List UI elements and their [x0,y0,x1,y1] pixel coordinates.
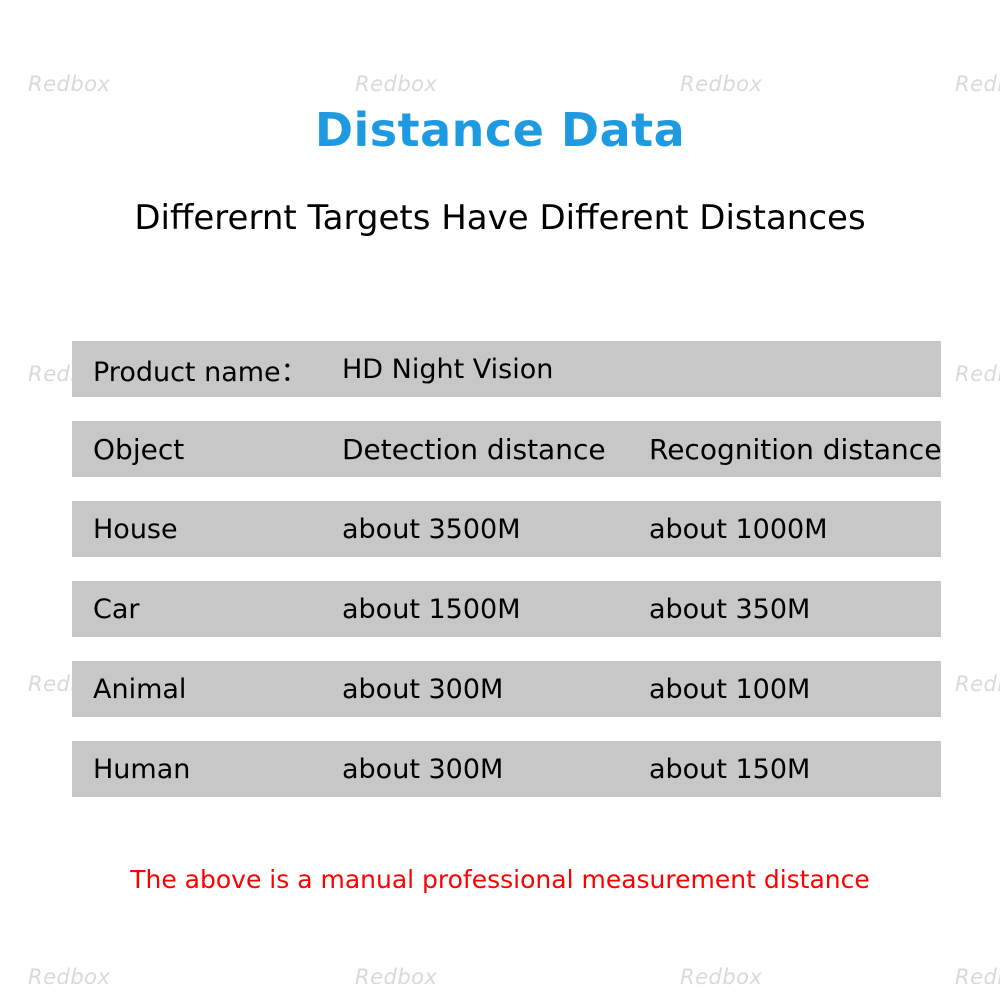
cell-object: Human [72,754,342,785]
table-row-product: Product name： HD Night Vision [72,341,941,397]
watermark-text: Redbox [680,965,762,989]
table-row: Animal about 300M about 100M [72,661,941,717]
measurement-footnote: The above is a manual professional measu… [0,865,1000,894]
column-header-recognition: Recognition distance [649,433,941,466]
watermark-text: Redbox [680,72,762,96]
page-subtitle: Differernt Targets Have Different Distan… [0,198,1000,238]
column-header-object: Object [72,433,342,466]
watermark-text: Redbox [955,672,1000,696]
cell-detection: about 3500M [342,514,649,545]
watermark-text: Redbox [955,965,1000,989]
watermark-text: Redbox [28,965,110,989]
cell-detection: about 300M [342,674,649,705]
column-header-detection: Detection distance [342,433,649,466]
cell-object: House [72,514,342,545]
cell-recognition: about 150M [649,754,941,785]
cell-recognition: about 350M [649,594,941,625]
watermark-text: Redbox [28,72,110,96]
cell-detection: about 1500M [342,594,649,625]
watermark-text: Redbox [355,965,437,989]
table-row: House about 3500M about 1000M [72,501,941,557]
cell-object: Car [72,594,342,625]
cell-object: Animal [72,674,342,705]
watermark-text: Redbox [355,72,437,96]
page-title: Distance Data [0,103,1000,157]
cell-recognition: about 100M [649,674,941,705]
watermark-text: Redbox [955,362,1000,386]
table-header-row: Object Detection distance Recognition di… [72,421,941,477]
product-name-value: HD Night Vision [342,354,941,385]
table-row: Car about 1500M about 350M [72,581,941,637]
cell-recognition: about 1000M [649,514,941,545]
product-name-label: Product name： [72,350,342,389]
watermark-text: Redbox [955,72,1000,96]
distance-data-table: Product name： HD Night Vision Object Det… [72,341,941,797]
table-row: Human about 300M about 150M [72,741,941,797]
cell-detection: about 300M [342,754,649,785]
